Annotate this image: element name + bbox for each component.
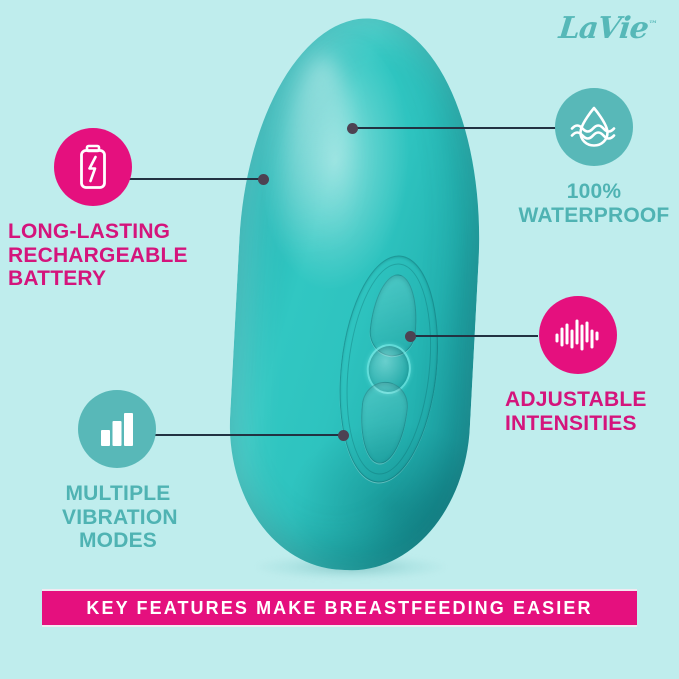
brand-logo-text: LaVie: [557, 11, 649, 46]
feature-battery-badge[interactable]: [54, 128, 132, 206]
feature-modes-badge[interactable]: [78, 390, 156, 468]
feature-waterproof-badge[interactable]: [555, 88, 633, 166]
key-features-banner: KEY FEATURES MAKE BREASTFEEDING EASIER: [42, 589, 637, 627]
trademark-symbol: ™: [648, 21, 658, 30]
device-highlight: [276, 54, 360, 317]
brand-logo: LaVie™: [558, 14, 659, 44]
sound-wave-icon: [552, 313, 604, 357]
device-control-panel: [329, 251, 448, 488]
battery-charging-icon: [73, 143, 113, 191]
key-features-banner-text: KEY FEATURES MAKE BREASTFEEDING EASIER: [86, 598, 592, 619]
leader-line-modes: [148, 434, 344, 436]
water-droplet-icon: [568, 102, 620, 152]
feature-intensity-label: ADJUSTABLE INTENSITIES: [505, 388, 675, 435]
bar-chart-icon: [96, 408, 138, 450]
device-body: [222, 12, 491, 576]
feature-intensity[interactable]: ADJUSTABLE INTENSITIES: [505, 296, 675, 435]
feature-battery-label: LONG-LASTING RECHARGEABLE BATTERY: [8, 220, 218, 291]
feature-modes-label: MULTIPLE VIBRATION MODES: [62, 482, 174, 553]
feature-waterproof-label: 100% WATERPROOF: [517, 180, 671, 227]
infographic-canvas: LaVie™ LONG-LASTING RECHARGEABLE BATTERY: [0, 0, 679, 679]
feature-modes[interactable]: MULTIPLE VIBRATION MODES: [62, 390, 174, 553]
feature-waterproof[interactable]: 100% WATERPROOF: [517, 88, 671, 227]
product-device: [228, 18, 468, 578]
feature-intensity-badge[interactable]: [539, 296, 617, 374]
feature-battery[interactable]: LONG-LASTING RECHARGEABLE BATTERY: [8, 128, 218, 291]
